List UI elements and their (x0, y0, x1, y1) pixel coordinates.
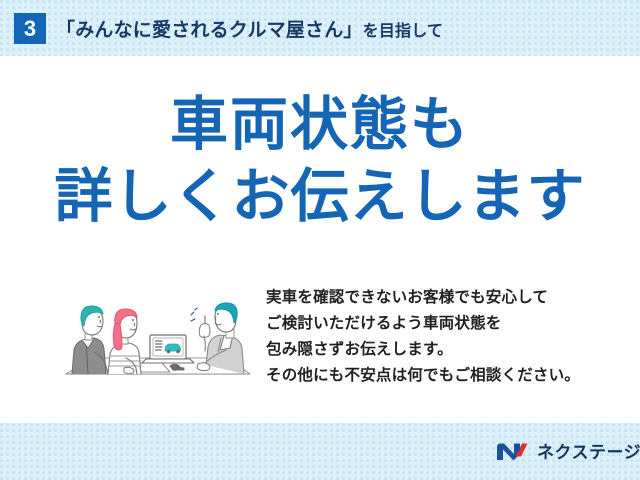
header-title-quoted: 「みんなに愛されるクルマ屋さん」 (56, 15, 363, 42)
header-title: 「みんなに愛されるクルマ屋さん」を目指して (56, 13, 443, 44)
promo-slide: 3 「みんなに愛されるクルマ屋さん」を目指して 車両状態も 詳しくお伝えします (0, 0, 640, 480)
body-copy-line-3: 包み隠さずお伝えします。 (266, 337, 616, 363)
body-copy-line-4: その他にも不安点は何でもご相談ください。 (266, 363, 616, 389)
brand-logo-text: ネクステージ (537, 444, 640, 461)
body-copy-line-1: 実車を確認できないお客様でも安心して (266, 285, 616, 311)
headline-line-1: 車両状態も (0, 96, 640, 154)
nextage-n-logo-icon (495, 440, 530, 464)
headline-line-2: 詳しくお伝えします (0, 168, 640, 226)
step-number-badge: 3 (14, 13, 46, 44)
body-copy: 実車を確認できないお客様でも安心して ご検討いただけるよう車両状態を 包み隠さず… (266, 285, 616, 389)
step-number-label: 3 (24, 18, 36, 40)
brand-logo: ネクステージ (495, 437, 640, 467)
body-copy-line-2: ご検討いただけるよう車両状態を (266, 311, 616, 337)
headline: 車両状態も 詳しくお伝えします (0, 96, 640, 226)
consultation-illustration (58, 278, 258, 390)
header-title-tail: を目指して (363, 17, 444, 41)
consultation-illustration-svg (58, 278, 258, 390)
